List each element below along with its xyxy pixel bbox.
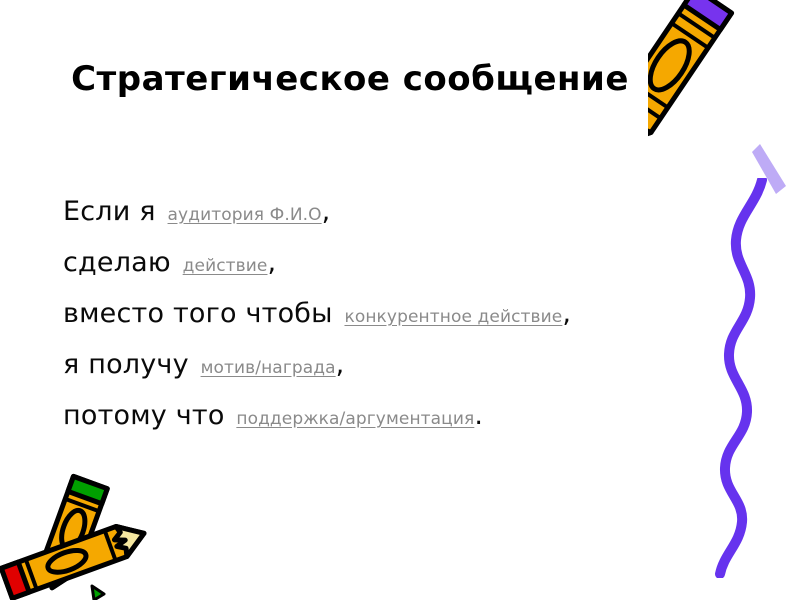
line-lead-text: потому что (63, 400, 225, 431)
line-punctuation: . (474, 400, 483, 431)
statement-line: сделаю действие, (63, 239, 703, 290)
statement-line: Если я аудитория Ф.И.О, (63, 188, 703, 239)
statement-line: потому что поддержка/аргументация. (63, 392, 703, 443)
line-lead-text: сделаю (63, 247, 171, 278)
line-lead-text: Если я (63, 196, 156, 227)
line-lead-text: вместо того чтобы (63, 298, 333, 329)
placeholder-audience[interactable]: аудитория Ф.И.О (168, 205, 322, 225)
line-punctuation: , (268, 247, 277, 278)
line-punctuation: , (336, 349, 345, 380)
crossed-crayons-icon (0, 462, 171, 600)
statement-line: я получу мотив/награда, (63, 341, 703, 392)
slide-canvas: Стратегическое сообщение Если я аудитори… (0, 0, 800, 600)
placeholder-support-argument[interactable]: поддержка/аргументация (236, 409, 474, 429)
line-lead-text: я получу (63, 349, 189, 380)
placeholder-competitive-action[interactable]: конкурентное действие (344, 307, 562, 327)
wavy-line-icon (690, 178, 800, 578)
statement-line: вместо того чтобы конкурентное действие, (63, 290, 703, 341)
crayon-icon (648, 0, 800, 204)
page-title: Стратегическое сообщение (0, 57, 700, 101)
line-punctuation: , (562, 298, 571, 329)
placeholder-motive-reward[interactable]: мотив/награда (201, 358, 336, 378)
body-text-block: Если я аудитория Ф.И.О, сделаю действие,… (63, 188, 703, 443)
line-punctuation: , (322, 196, 331, 227)
placeholder-action[interactable]: действие (183, 256, 268, 276)
